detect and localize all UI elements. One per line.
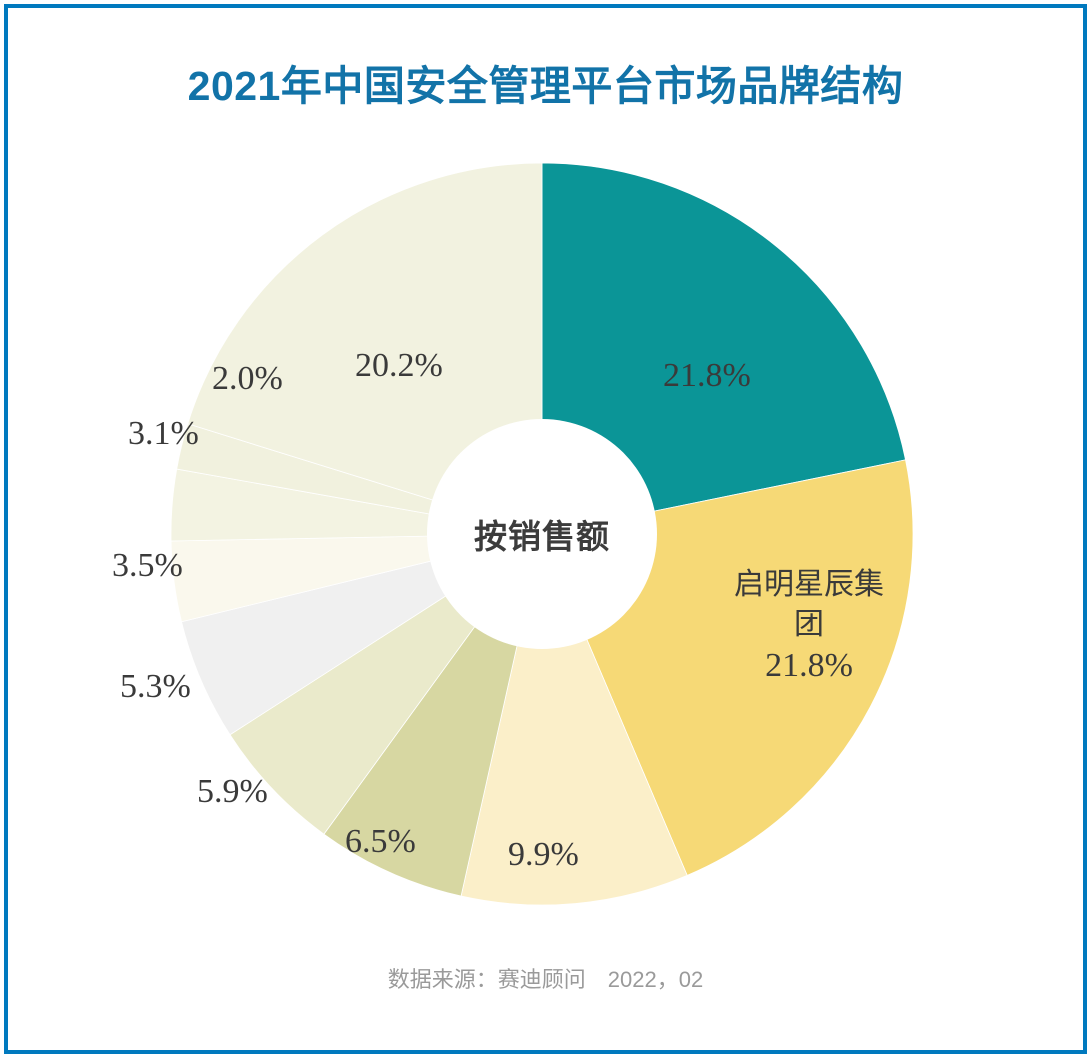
slice-label-3-1: 3.1% bbox=[128, 412, 199, 457]
chart-page: 2021年中国安全管理平台市场品牌结构 按销售额 21.8% 启明星辰集 团 2… bbox=[0, 0, 1091, 1058]
slice-label-9-9: 9.9% bbox=[508, 833, 579, 878]
slice-label-2-0: 2.0% bbox=[212, 357, 283, 402]
slice-label-venustech-pct: 21.8% bbox=[724, 644, 894, 689]
slice-label-5-3: 5.3% bbox=[120, 665, 191, 710]
donut-center-hole: 按销售额 bbox=[427, 419, 657, 649]
slice-label-teal-pct: 21.8% bbox=[663, 354, 751, 399]
page-title: 2021年中国安全管理平台市场品牌结构 bbox=[0, 52, 1091, 112]
source-note: 数据来源：赛迪顾问 2022，02 bbox=[0, 962, 1091, 994]
slice-label-venustech: 启明星辰集 团 21.8% bbox=[724, 565, 894, 689]
slice-label-5-9: 5.9% bbox=[197, 770, 268, 815]
slice-label-3-5: 3.5% bbox=[112, 544, 183, 589]
slice-label-venustech-name2: 团 bbox=[724, 605, 894, 645]
donut-center-label: 按销售额 bbox=[474, 510, 610, 558]
slice-label-venustech-name: 启明星辰集 bbox=[724, 565, 894, 605]
slice-label-6-5: 6.5% bbox=[345, 820, 416, 865]
slice-label-20-2: 20.2% bbox=[355, 344, 443, 389]
donut-chart: 按销售额 bbox=[171, 163, 913, 905]
